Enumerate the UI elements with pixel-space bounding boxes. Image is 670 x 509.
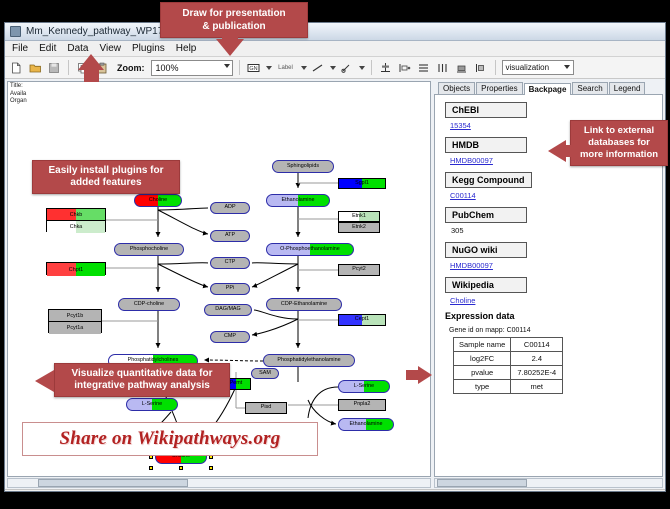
callout-link-line3: more information: [579, 149, 659, 161]
metabolite-node[interactable]: DAG/MAG: [204, 304, 252, 316]
metabolite-node[interactable]: Choline: [134, 194, 182, 207]
side-panel-tabs: Objects Properties Backpage Search Legen…: [434, 81, 663, 95]
datanode-icon[interactable]: GN: [246, 60, 262, 76]
title-bar: Mm_Kennedy_pathway_WP1771_45176.gpml: [5, 23, 665, 41]
selection-handle[interactable]: [179, 466, 183, 470]
metabolite-node[interactable]: O-Phosphoethanolamine: [266, 243, 354, 256]
zoom-value: 100%: [156, 63, 179, 73]
app-icon: [10, 26, 21, 37]
toolbar-separator: [68, 60, 69, 75]
selection-handle[interactable]: [209, 466, 213, 470]
chevron-down-icon-datanode[interactable]: [266, 66, 272, 70]
label-dropdown[interactable]: Label: [275, 60, 297, 76]
table-row: Sample name C00114: [454, 338, 563, 352]
chevron-down-icon: [224, 64, 230, 68]
expr-val-type: met: [511, 380, 563, 394]
metabolite-label: CMP: [224, 334, 236, 339]
callout-draw-line2: & publication: [169, 20, 299, 33]
gene-label: Etnk2: [352, 225, 366, 230]
metabolite-label: Sphingolipids: [287, 164, 319, 169]
gene-group[interactable]: Pcyt1bPcyt1a: [48, 309, 102, 333]
menu-bar: File Edit Data View Plugins Help: [5, 41, 665, 57]
expression-table: Sample name C00114 log2FC 2.4 pvalue 7.8…: [453, 337, 563, 394]
hscrollbar-thumb[interactable]: [38, 479, 188, 487]
chevron-down-icon-visualization: [564, 65, 570, 69]
open-icon[interactable]: [27, 60, 43, 76]
db-block-wikipedia: Wikipedia Choline: [445, 275, 662, 305]
callout-link-line1: Link to external: [579, 125, 659, 137]
gene-group[interactable]: Chpt1: [46, 262, 106, 275]
db-link-wikipedia[interactable]: Choline: [450, 296, 662, 305]
gene-label: Pcyt1b: [67, 313, 83, 319]
metabolite-node[interactable]: Ethanolamine: [266, 194, 330, 207]
callout-draw-line1: Draw for presentation: [169, 7, 299, 20]
size-icon[interactable]: [454, 60, 470, 76]
metabolite-node[interactable]: Phosphocholine: [114, 243, 184, 256]
callout-plugins: Easily install plugins for added feature…: [32, 160, 180, 194]
metabolite-label: CDP-Ethanolamine: [281, 302, 327, 307]
metabolite-node[interactable]: CMP: [210, 331, 250, 343]
toolbar-separator-2: [239, 60, 240, 75]
tool-bar: Zoom: 100% GN Label: [5, 57, 665, 79]
metabolite-node[interactable]: CTP: [210, 257, 250, 269]
callout-draw: Draw for presentation & publication: [160, 2, 308, 38]
callout-link: Link to external databases for more info…: [570, 120, 668, 166]
gene-node[interactable]: Pcyt2: [338, 264, 380, 276]
tab-legend[interactable]: Legend: [609, 82, 646, 94]
expr-val-sample-name: C00114: [511, 338, 563, 352]
metabolite-label: DAG/MAG: [215, 307, 240, 312]
gene-node[interactable]: Chpt1: [47, 263, 105, 276]
share-banner: Share on Wikipathways.org: [22, 422, 318, 456]
callout-expression-stem: [406, 370, 420, 380]
align-left-icon[interactable]: [397, 60, 413, 76]
metabolite-node[interactable]: Sphingolipids: [272, 160, 334, 173]
metabolite-node[interactable]: Phosphatidylethanolamine: [263, 354, 355, 367]
receptor-icon[interactable]: [339, 60, 355, 76]
db-value-pubchem: 305: [451, 226, 662, 235]
status-bar: | Gene database: ...m_Derby_20120602.bri…: [5, 489, 665, 492]
selection-handle[interactable]: [149, 466, 153, 470]
db-title-kegg: Kegg Compound: [445, 172, 532, 188]
metabolite-node[interactable]: L-Serine: [338, 380, 390, 393]
metabolite-label: Phosphocholine: [130, 247, 168, 252]
callout-visualize-arrow: [35, 370, 54, 392]
callout-draw-stem: [222, 36, 238, 44]
gene-label: Pnpla2: [354, 402, 371, 407]
callout-visualize: Visualize quantitative data for integrat…: [54, 363, 230, 397]
gene-node[interactable]: Pisd: [245, 402, 287, 414]
expr-key-pvalue: pvalue: [454, 366, 511, 380]
gene-node[interactable]: Pcyt1a: [49, 322, 101, 334]
menu-item-help[interactable]: Help: [175, 43, 198, 54]
zoom-label: Zoom:: [117, 63, 145, 73]
expr-val-log2fc: 2.4: [511, 352, 563, 366]
metabolite-label: ATP: [225, 233, 235, 238]
callout-plugins-line2: added features: [41, 177, 171, 189]
menu-item-plugins[interactable]: Plugins: [131, 43, 166, 54]
menu-item-data[interactable]: Data: [66, 43, 89, 54]
scroll-row: [5, 477, 665, 489]
gene-node[interactable]: Chka: [47, 221, 105, 233]
gene-node[interactable]: Cept1: [338, 314, 386, 326]
callout-link-line2: databases for: [579, 137, 659, 149]
expr-key-log2fc: log2FC: [454, 352, 511, 366]
main-area: Title: Availa Organ: [5, 79, 665, 477]
metabolite-node[interactable]: ADP: [210, 202, 250, 214]
visualization-value: visualization: [506, 63, 550, 72]
metabolite-label: SAM: [259, 371, 271, 376]
metabolite-node[interactable]: PPi: [210, 283, 250, 295]
gene-node[interactable]: Pnpla2: [338, 399, 386, 411]
canvas-hscrollbar[interactable]: [7, 478, 431, 488]
gene-node[interactable]: Pcyt1b: [49, 310, 101, 322]
order-icon[interactable]: [473, 60, 489, 76]
metabolite-label: Choline: [149, 198, 167, 203]
metabolite-label: CDP-choline: [134, 302, 164, 307]
metabolite-node[interactable]: CDP-choline: [118, 298, 180, 311]
callout-link-stem: [563, 145, 573, 157]
menu-item-view[interactable]: View: [98, 43, 122, 54]
metabolite-label: ADP: [224, 205, 235, 210]
gene-label: Pemt: [230, 381, 243, 386]
pathway-canvas[interactable]: Title: Availa Organ: [7, 81, 431, 477]
stack-icon[interactable]: [416, 60, 432, 76]
expr-key-sample-name: Sample name: [454, 338, 511, 352]
metabolite-node[interactable]: ATP: [210, 230, 250, 242]
db-title-hmdb: HMDB: [445, 137, 527, 153]
db-block-kegg: Kegg Compound C00114: [445, 170, 662, 200]
tab-search[interactable]: Search: [572, 82, 607, 94]
db-block-pubchem: PubChem 305: [445, 205, 662, 235]
toolbar-separator-3: [371, 60, 372, 75]
svg-text:GN: GN: [249, 66, 257, 72]
save-icon[interactable]: [46, 60, 62, 76]
metabolite-label: Ethanolamine: [282, 198, 315, 203]
align-center-icon[interactable]: [378, 60, 394, 76]
gene-label: Pcyt2: [352, 267, 365, 272]
expression-data-heading: Expression data: [445, 311, 662, 321]
db-title-chebi: ChEBI: [445, 102, 527, 118]
side-hscrollbar[interactable]: [434, 478, 663, 488]
expr-key-type: type: [454, 380, 511, 394]
gene-label: Pcyt1a: [67, 325, 83, 331]
tab-backpage[interactable]: Backpage: [524, 83, 572, 95]
db-title-pubchem: PubChem: [445, 207, 527, 223]
table-row: log2FC 2.4: [454, 352, 563, 366]
gene-label: Pisd: [261, 405, 272, 410]
chevron-down-icon-line[interactable]: [330, 66, 336, 70]
db-title-nugo: NuGO wiki: [445, 242, 527, 258]
toolbar-separator-4: [495, 60, 496, 75]
metabolite-label: L-Serine: [142, 402, 162, 407]
gene-label: Chkb: [70, 212, 83, 218]
chevron-down-icon-label[interactable]: [301, 66, 307, 70]
menu-item-file[interactable]: File: [11, 43, 29, 54]
metabolite-node[interactable]: L-Serine: [126, 398, 178, 411]
gene-label: Chka: [70, 224, 83, 230]
visualization-combobox[interactable]: visualization: [502, 60, 574, 75]
chevron-down-icon-receptor[interactable]: [359, 66, 365, 70]
table-row: type met: [454, 380, 563, 394]
metabolite-node[interactable]: SAM: [251, 368, 279, 379]
callout-expression-arrow: [418, 366, 432, 384]
db-title-wikipedia: Wikipedia: [445, 277, 527, 293]
metabolite-label: Ethanolamine: [350, 422, 383, 427]
gpml-editor-window: Mm_Kennedy_pathway_WP1771_45176.gpml Fil…: [4, 22, 666, 492]
callout-plugins-line1: Easily install plugins for: [41, 165, 171, 177]
menu-item-edit[interactable]: Edit: [38, 43, 57, 54]
side-hscrollbar-thumb[interactable]: [437, 479, 527, 487]
metabolite-node[interactable]: Ethanolamine: [338, 418, 394, 431]
gene-node[interactable]: Chkb: [47, 209, 105, 221]
tab-properties[interactable]: Properties: [476, 82, 522, 94]
metabolite-label: L-Serine: [354, 384, 374, 389]
new-icon[interactable]: [8, 60, 24, 76]
zoom-combobox[interactable]: 100%: [151, 60, 233, 76]
gene-node[interactable]: Sgpl1: [338, 178, 386, 189]
gene-label: Cept1: [355, 317, 369, 322]
db-block-nugo: NuGO wiki HMDB00097: [445, 240, 662, 270]
gene-label: Sgpl1: [355, 181, 369, 186]
callout-plugins-stem: [84, 68, 99, 82]
metabolite-label: O-Phosphoethanolamine: [280, 247, 340, 252]
gene-node[interactable]: Etnk1: [338, 211, 380, 222]
share-banner-text: Share on Wikipathways.org: [60, 428, 281, 450]
gene-group[interactable]: ChkbChka: [46, 208, 106, 232]
expr-val-pvalue: 7.80252E-4: [511, 366, 563, 380]
callout-visualize-line1: Visualize quantitative data for: [63, 368, 221, 380]
metabolite-node[interactable]: CDP-Ethanolamine: [266, 298, 342, 311]
gene-id-line: Gene id on mapp: C00114: [449, 327, 662, 334]
metabolite-label: CTP: [225, 260, 236, 265]
gene-node[interactable]: Etnk2: [338, 222, 380, 233]
gene-label: Chpt1: [69, 267, 83, 273]
distribute-icon[interactable]: [435, 60, 451, 76]
db-link-nugo[interactable]: HMDB00097: [450, 261, 662, 270]
gene-label: Etnk1: [352, 214, 366, 219]
table-row: pvalue 7.80252E-4: [454, 366, 563, 380]
callout-visualize-line2: integrative pathway analysis: [63, 380, 221, 392]
tab-objects[interactable]: Objects: [438, 82, 475, 94]
metabolite-label: PPi: [226, 286, 234, 291]
line-icon[interactable]: [310, 60, 326, 76]
db-link-kegg[interactable]: C00114: [450, 191, 662, 200]
metabolite-label: Phosphatidylethanolamine: [277, 358, 340, 363]
